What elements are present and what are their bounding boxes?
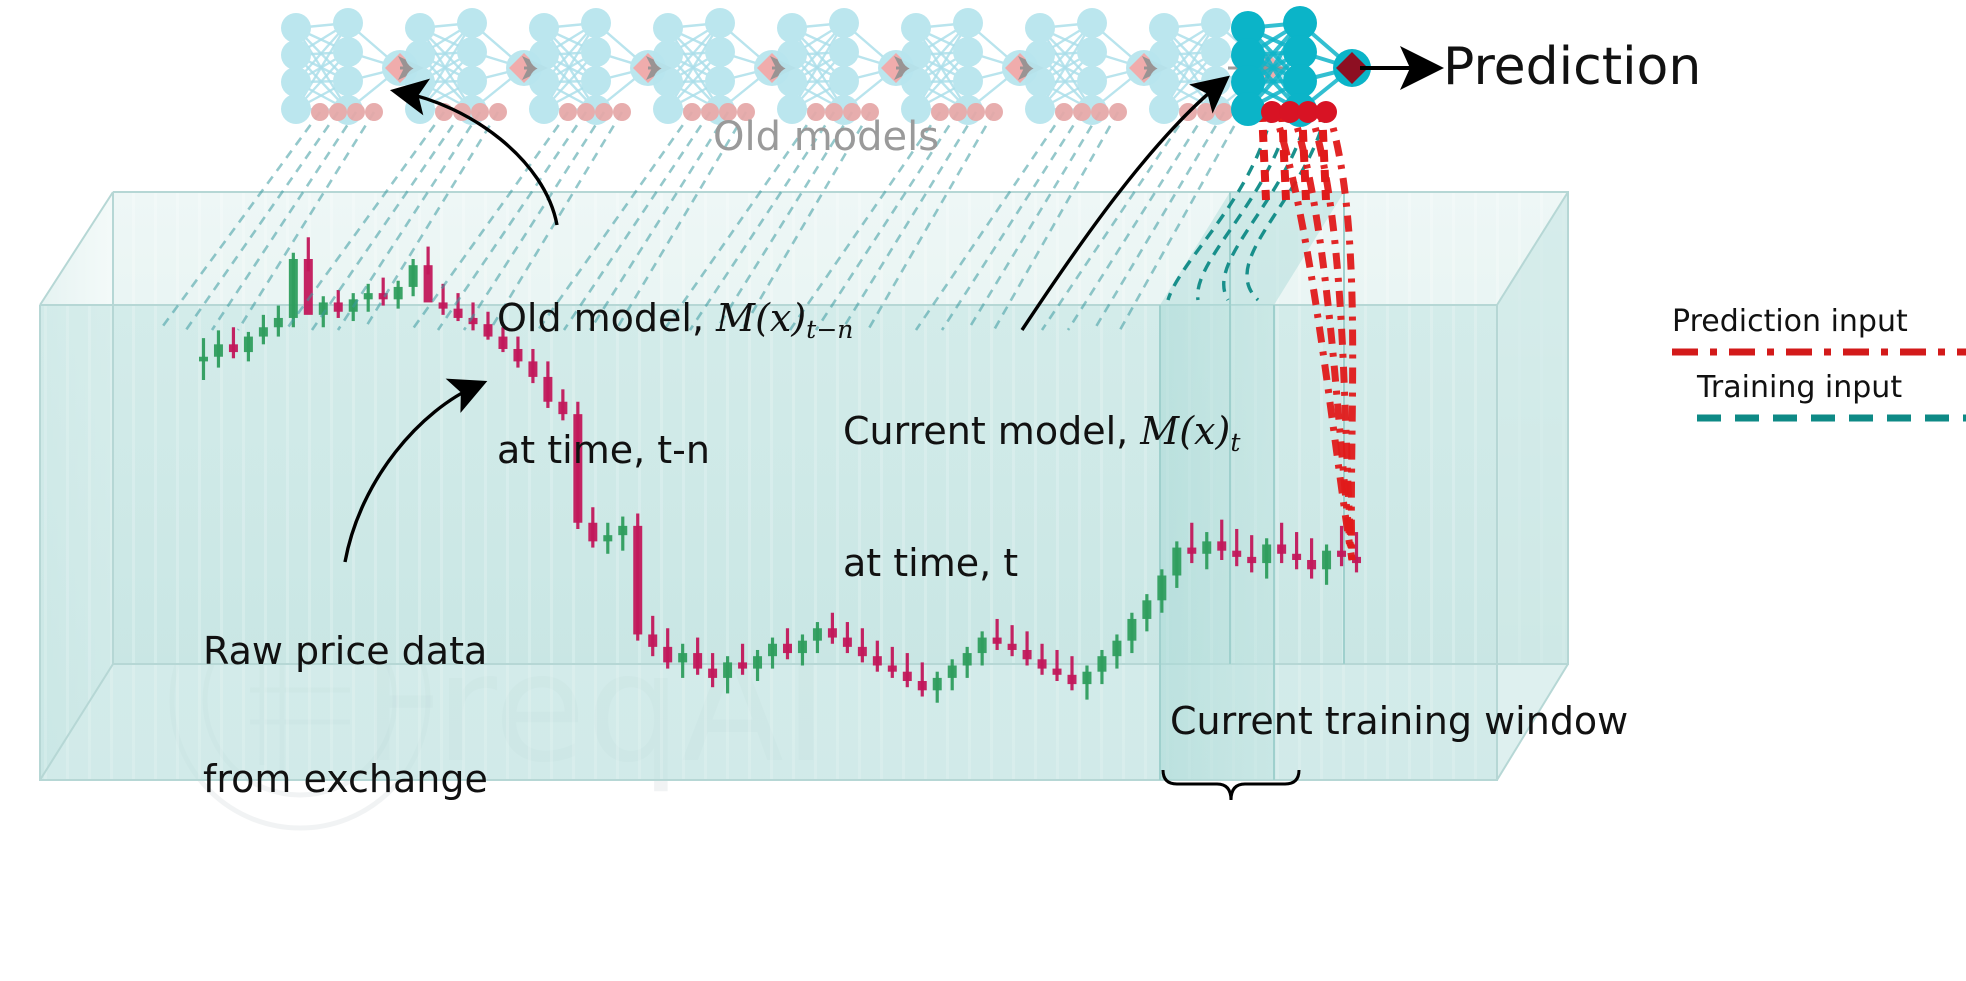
prediction-label: Prediction [1443,38,1701,96]
current-training-window-label: Current training window [1170,700,1628,743]
raw-price-data-line1: Raw price data [203,630,488,673]
old-model-annotation-line2: at time, t-n [497,429,853,472]
old-model-annotation-line1-prefix: Old model, [497,296,716,340]
current-model-math-sub: t [1230,428,1240,457]
current-model-annotation: Current model, M(x)t at time, t [843,325,1240,670]
current-model-annotation-line1-prefix: Current model, [843,409,1140,453]
raw-price-data-line2: from exchange [203,758,488,801]
diagram-canvas: FreqAI [0,0,1966,981]
old-model-math-base: M [716,296,755,340]
old-models-label: Old models [713,115,939,160]
raw-price-data-annotation: Raw price data from exchange [203,545,488,885]
legend-label-prediction-input: Prediction input [1672,305,1908,339]
old-model-annotation: Old model, M(x)t−n at time, t-n [497,212,853,557]
current-model-annotation-line2: at time, t [843,542,1240,585]
current-model-math-arg: (x) [1179,409,1230,453]
old-model-math-arg: (x) [755,296,806,340]
current-model-math-base: M [1140,409,1179,453]
legend-label-training-input: Training input [1697,371,1902,405]
